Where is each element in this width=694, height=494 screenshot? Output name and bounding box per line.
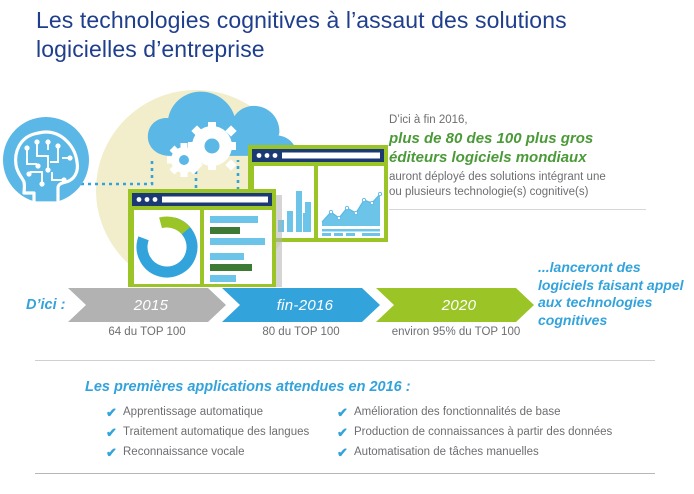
stat-intro: D’ici à fin 2016, <box>389 112 647 128</box>
check-icon: ✔ <box>106 445 123 460</box>
list-item-label: Reconnaissance vocale <box>123 445 244 460</box>
timeline-caption-fin-2016: 80 du TOP 100 <box>222 326 380 342</box>
check-icon: ✔ <box>337 425 354 440</box>
stat-callout: D’ici à fin 2016, plus de 80 des 100 plu… <box>389 112 647 200</box>
dashboard-window-front <box>128 189 282 287</box>
stat-highlight-line-2: éditeurs logiciels mondiaux <box>389 149 647 168</box>
list-item-label: Apprentissage automatique <box>123 405 263 420</box>
timeline-step-label-2020: 2020 <box>442 297 477 314</box>
timeline-step-label-fin-2016: fin-2016 <box>277 297 334 314</box>
list-item-label: Production de connaissances à partir des… <box>354 425 612 440</box>
divider-bottom <box>35 473 655 474</box>
hero-illustration <box>0 72 400 287</box>
stat-tail-line-1: auront déployé des solutions intégrant u… <box>389 170 647 185</box>
list-item: ✔ Traitement automatique des langues <box>106 425 336 445</box>
check-icon: ✔ <box>337 405 354 420</box>
timeline-step-2020: 2020 <box>376 288 534 322</box>
gear-small <box>167 143 201 177</box>
brain-circuit-head-icon <box>3 117 89 203</box>
list-item: ✔ Automatisation de tâches manuelles <box>337 445 637 465</box>
timeline-outcome-note: ...lanceront des logiciels faisant appel… <box>538 259 688 329</box>
stat-highlight: plus de 80 des 100 plus gros éditeurs lo… <box>389 130 647 167</box>
list-item-label: Automatisation de tâches manuelles <box>354 445 539 460</box>
page-title: Les technologies cognitives à l’assaut d… <box>36 6 636 64</box>
stat-highlight-line-1: plus de 80 des 100 plus gros <box>389 130 647 149</box>
list-item-label: Amélioration des fonctionnalités de base <box>354 405 561 420</box>
stat-tail-line-2: ou plusieurs technologie(s) cognitive(s) <box>389 185 647 200</box>
check-icon: ✔ <box>106 425 123 440</box>
timeline-step-label-2015: 2015 <box>134 297 169 314</box>
check-icon: ✔ <box>337 445 354 460</box>
check-icon: ✔ <box>106 405 123 420</box>
list-item: ✔ Amélioration des fonctionnalités de ba… <box>337 405 637 425</box>
infographic-canvas: Les technologies cognitives à l’assaut d… <box>0 0 694 494</box>
list-item: ✔ Production de connaissances à partir d… <box>337 425 637 445</box>
divider-top <box>389 209 646 210</box>
stat-tail: auront déployé des solutions intégrant u… <box>389 170 647 200</box>
applications-right-column: ✔ Amélioration des fonctionnalités de ba… <box>337 405 637 465</box>
timeline-prefix-label: D’ici : <box>26 297 65 313</box>
timeline-caption-2015: 64 du TOP 100 <box>68 326 226 342</box>
applications-left-column: ✔ Apprentissage automatique ✔ Traitement… <box>106 405 336 465</box>
timeline-caption-2020: environ 95% du TOP 100 <box>370 326 542 342</box>
timeline-step-fin-2016: fin-2016 <box>222 288 380 322</box>
list-item: ✔ Apprentissage automatique <box>106 405 336 425</box>
timeline-step-2015: 2015 <box>68 288 226 322</box>
applications-heading: Les premières applications attendues en … <box>85 379 411 395</box>
divider-middle <box>35 360 655 361</box>
list-item: ✔ Reconnaissance vocale <box>106 445 336 465</box>
list-item-label: Traitement automatique des langues <box>123 425 309 440</box>
